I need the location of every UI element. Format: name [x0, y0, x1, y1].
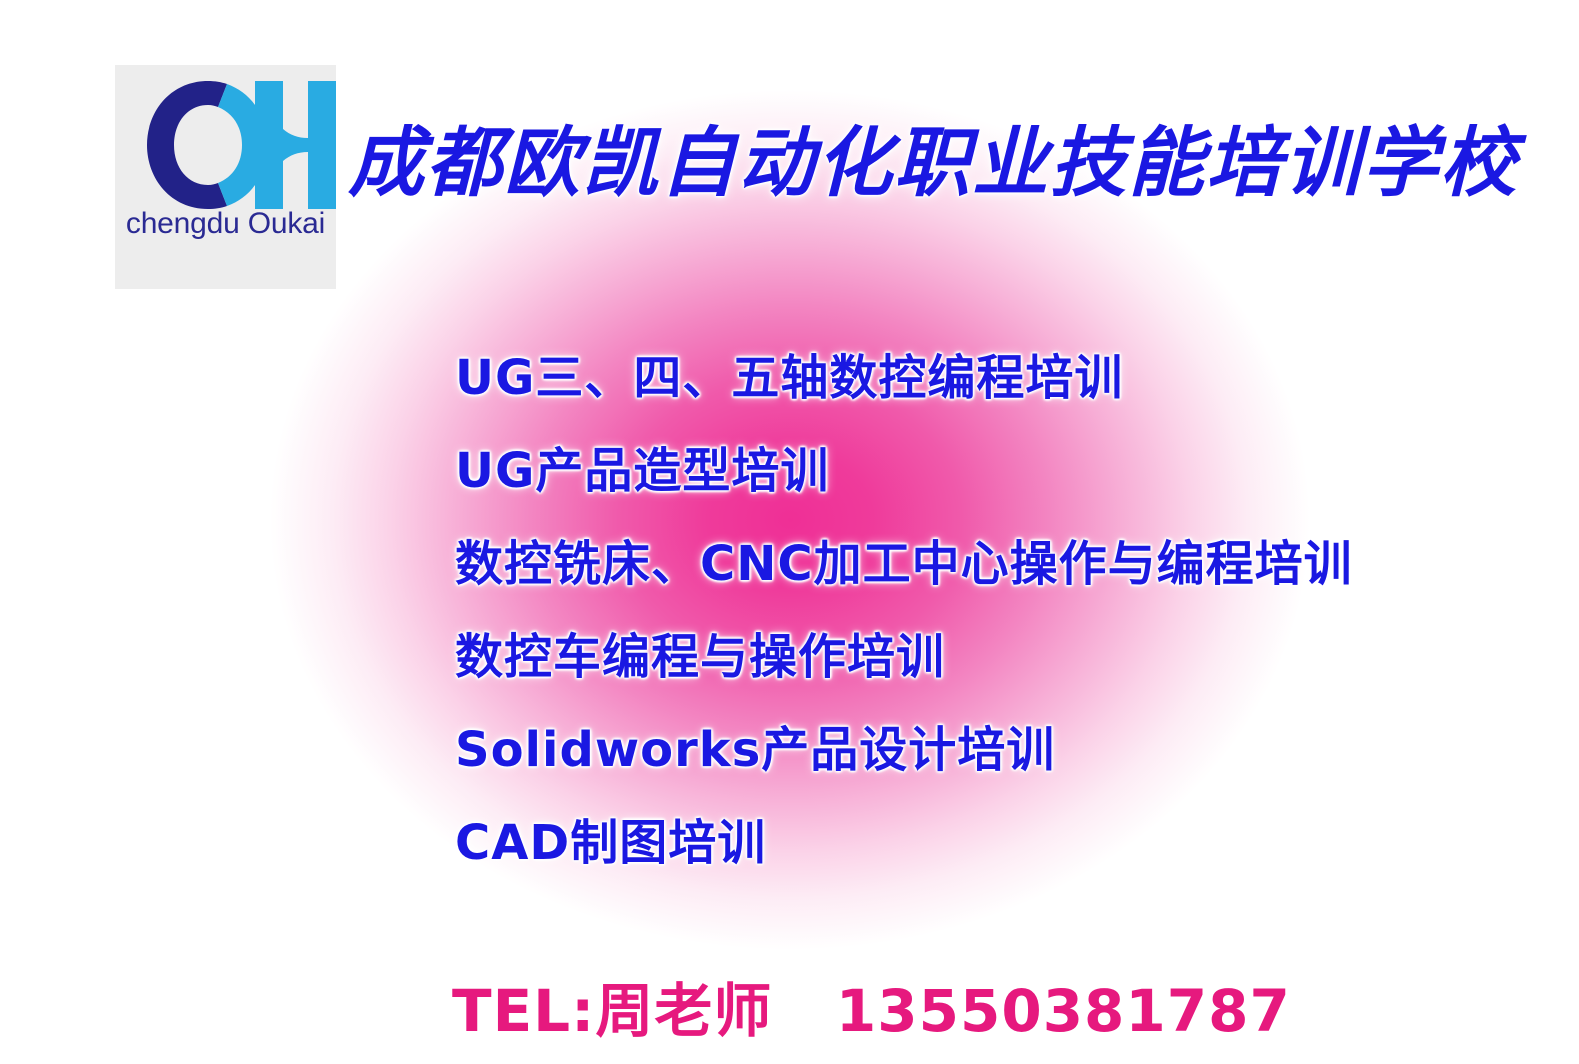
- list-item: UG产品造型培训: [455, 425, 1555, 518]
- contact-phone: TEL:周老师 13550381787: [452, 975, 1291, 1047]
- logo-wordmark: chengdu Oukai: [115, 207, 336, 241]
- list-item: 数控车编程与操作培训: [455, 611, 1555, 704]
- course-list: UG三、四、五轴数控编程培训 UG产品造型培训 数控铣床、CNC加工中心操作与编…: [455, 332, 1555, 890]
- page-title: 成都欧凯自动化职业技能培训学校: [348, 113, 1458, 213]
- list-item: CAD制图培训: [455, 797, 1555, 890]
- list-item: UG三、四、五轴数控编程培训: [455, 332, 1555, 425]
- logo-box: chengdu Oukai: [115, 65, 336, 289]
- list-item: 数控铣床、CNC加工中心操作与编程培训: [455, 518, 1555, 611]
- oukai-logo-icon: [115, 75, 336, 215]
- list-item: Solidworks产品设计培训: [455, 704, 1555, 797]
- poster-canvas: chengdu Oukai 成都欧凯自动化职业技能培训学校 UG三、四、五轴数控…: [0, 0, 1579, 1064]
